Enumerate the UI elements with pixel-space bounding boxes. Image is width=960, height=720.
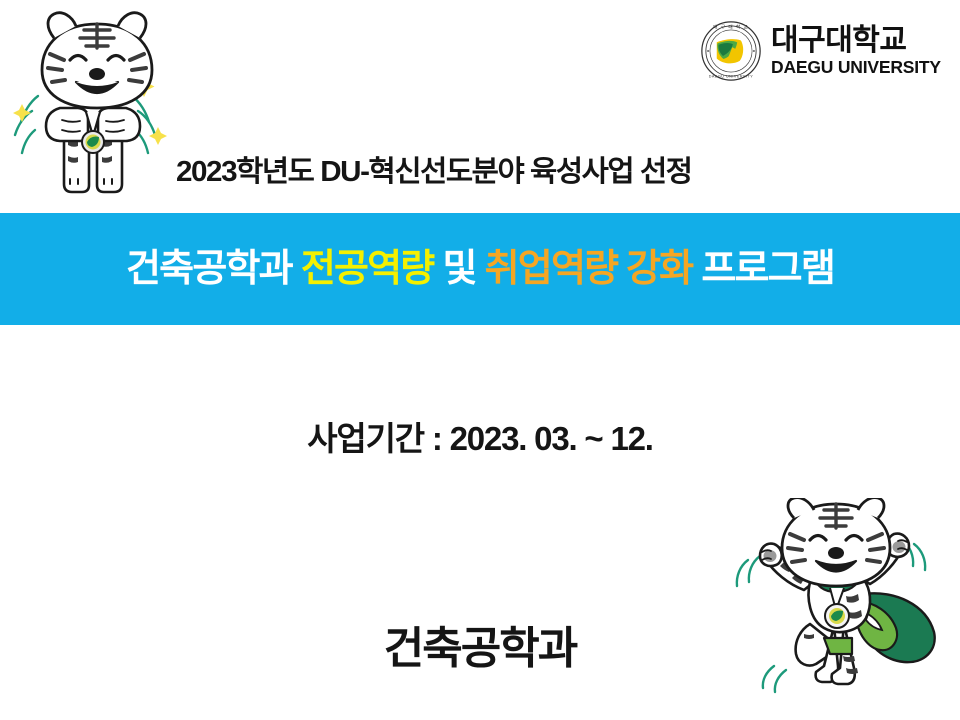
banner-segment-and: 및 (442, 248, 475, 290)
cheering-tiger-mascot-icon (718, 498, 956, 712)
banner-segment-major-competency: 전공역량 (301, 248, 434, 290)
daegu-university-emblem-icon: 대 구 대 학 교 DAEGU UNIVERSITY (700, 20, 762, 82)
banner-segment-program: 프로그램 (701, 248, 834, 290)
svg-text:DAEGU UNIVERSITY: DAEGU UNIVERSITY (709, 75, 754, 79)
eyebrow-title: 2023학년도 DU-혁신선도분야 육성사업 선정 (176, 148, 829, 190)
poster-canvas: 대 구 대 학 교 DAEGU UNIVERSITY 대구대학교 DAEGU U… (0, 0, 960, 720)
banner-segment-employment-competency: 취업역량 강화 (485, 248, 693, 290)
university-logo: 대 구 대 학 교 DAEGU UNIVERSITY 대구대학교 DAEGU U… (700, 18, 940, 84)
banner-segment-dept: 건축공학과 (126, 248, 292, 290)
project-period: 사업기간 : 2023. 03. ~ 12. (0, 412, 960, 460)
main-banner: 건축공학과전공역량및취업역량 강화프로그램 (0, 213, 960, 325)
university-name-en: DAEGU UNIVERSITY (771, 59, 941, 77)
university-name-kr: 대구대학교 (771, 26, 941, 56)
university-wordmark: 대구대학교 DAEGU UNIVERSITY (771, 26, 941, 77)
clapping-tiger-mascot-icon (2, 8, 192, 204)
banner-title: 건축공학과전공역량및취업역량 강화프로그램 (126, 250, 834, 288)
svg-text:대 구 대 학 교: 대 구 대 학 교 (713, 24, 748, 31)
